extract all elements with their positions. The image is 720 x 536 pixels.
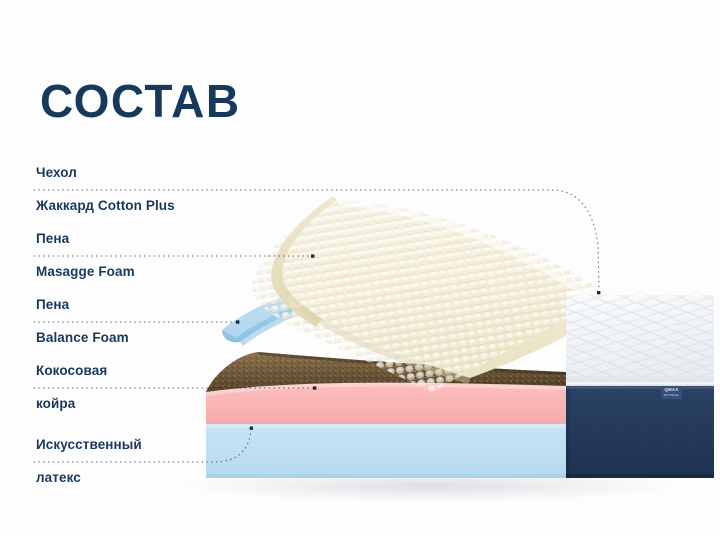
brand-tag: QMAX MATTRESS (661, 386, 682, 399)
label-artificial-latex-line1: Искусственный (36, 437, 142, 454)
label-coconut-coir: Кокосовая койра (36, 346, 107, 429)
label-cover-line2: Жаккард Cotton Plus (36, 198, 175, 215)
composition-infographic: СОСТАВ Чехол Жаккард Cotton Plus Пена Ma… (0, 0, 720, 536)
page-title: СОСТАВ (40, 78, 241, 124)
label-massage-foam-line2: Masagge Foam (36, 264, 135, 281)
label-artificial-latex-line2: латекс (36, 470, 142, 487)
label-balance-foam-line2: Balance Foam (36, 330, 129, 347)
layer-quilted-cover (540, 280, 720, 400)
avito-logo-icon (612, 500, 632, 520)
label-massage-foam-line1: Пена (36, 231, 135, 248)
label-cover-line1: Чехол (36, 165, 175, 182)
brand-tag-text: QMAX (664, 387, 678, 392)
brand-tag-subtext: MATTRESS (664, 393, 679, 399)
layer-base-blue (206, 424, 566, 478)
label-coconut-coir-line1: Кокосовая (36, 363, 107, 380)
avito-watermark: Avito (612, 498, 686, 522)
label-artificial-latex: Искусственный латекс (36, 420, 142, 503)
label-balance-foam-line1: Пена (36, 297, 129, 314)
avito-wordmark: Avito (636, 498, 686, 522)
layer-latex-pink (206, 383, 566, 424)
label-coconut-coir-line2: койра (36, 396, 107, 413)
layer-side-fabric (560, 380, 720, 484)
